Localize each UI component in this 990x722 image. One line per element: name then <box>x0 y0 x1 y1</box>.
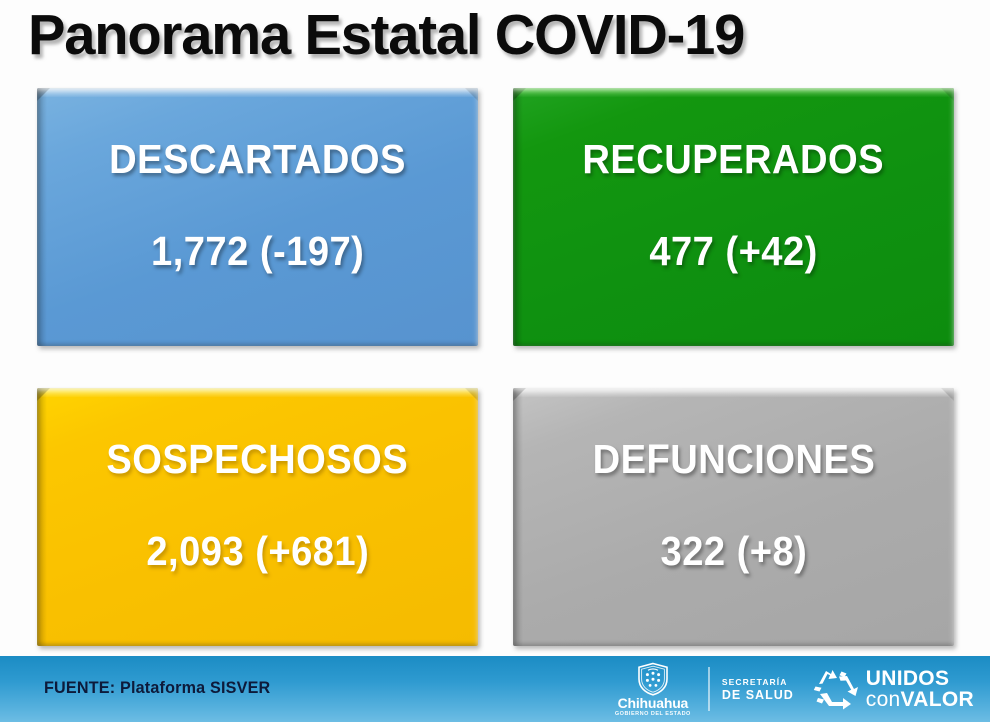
card-bevel-left <box>513 388 523 646</box>
card-corner-top-right <box>941 88 954 101</box>
logo-salud-line2: DE SALUD <box>722 688 794 702</box>
recycle-arrows-icon <box>812 667 860 711</box>
stat-card-recuperados[interactable]: RECUPERADOS 477 (+42) <box>513 88 954 346</box>
card-bevel-left <box>37 88 47 346</box>
stat-card-label: DEFUNCIONES <box>592 436 875 483</box>
card-corner-top-right <box>941 388 954 401</box>
stat-card-value: 322 (+8) <box>660 528 807 575</box>
logo-chihuahua: Chihuahua GOBIERNO DEL ESTADO <box>610 657 696 721</box>
card-bevel-top <box>513 88 954 97</box>
card-bevel-top <box>513 388 954 397</box>
card-corner-top-left <box>513 388 526 401</box>
footer-logo-group: Chihuahua GOBIERNO DEL ESTADO SECRETARÍA… <box>610 656 974 722</box>
logo-unidos-line2-thin: con <box>866 688 901 711</box>
logo-unidos-line2-bold: VALOR <box>901 688 974 711</box>
logo-unidos-line1: UNIDOS <box>866 669 974 689</box>
stat-card-label: DESCARTADOS <box>109 136 406 183</box>
stats-card-grid: DESCARTADOS 1,772 (-197) RECUPERADOS 477… <box>0 0 990 656</box>
card-corner-top-right <box>465 88 478 101</box>
stat-card-sospechosos[interactable]: SOSPECHOSOS 2,093 (+681) <box>37 388 478 646</box>
card-corner-top-left <box>37 88 50 101</box>
card-corner-top-right <box>465 388 478 401</box>
stat-card-value: 2,093 (+681) <box>146 528 369 575</box>
logo-chihuahua-name: Chihuahua <box>618 697 689 710</box>
stat-card-defunciones[interactable]: DEFUNCIONES 322 (+8) <box>513 388 954 646</box>
logo-unidos-con-valor: UNIDOS conVALOR <box>812 658 974 720</box>
stat-card-label: RECUPERADOS <box>583 136 885 183</box>
card-bevel-top <box>37 88 478 97</box>
footer-bar: FUENTE: Plataforma SISVER Chihuahua GOBI… <box>0 656 990 722</box>
stat-card-descartados[interactable]: DESCARTADOS 1,772 (-197) <box>37 88 478 346</box>
card-corner-top-left <box>37 388 50 401</box>
card-bevel-left <box>37 388 47 646</box>
logo-secretaria-de-salud: SECRETARÍA DE SALUD <box>722 658 794 720</box>
stat-card-value: 1,772 (-197) <box>151 228 364 275</box>
shield-icon <box>636 662 670 696</box>
logo-divider <box>708 667 710 711</box>
logo-chihuahua-subtitle: GOBIERNO DEL ESTADO <box>615 710 691 718</box>
card-corner-top-left <box>513 88 526 101</box>
logo-salud-line1: SECRETARÍA <box>722 677 794 688</box>
footer-source-text: FUENTE: Plataforma SISVER <box>44 678 270 698</box>
card-bevel-left <box>513 88 523 346</box>
card-bevel-top <box>37 388 478 397</box>
stat-card-label: SOSPECHOSOS <box>107 436 409 483</box>
logo-unidos-line2: conVALOR <box>866 689 974 710</box>
logo-unidos-text: UNIDOS conVALOR <box>866 669 974 710</box>
stat-card-value: 477 (+42) <box>649 228 817 275</box>
